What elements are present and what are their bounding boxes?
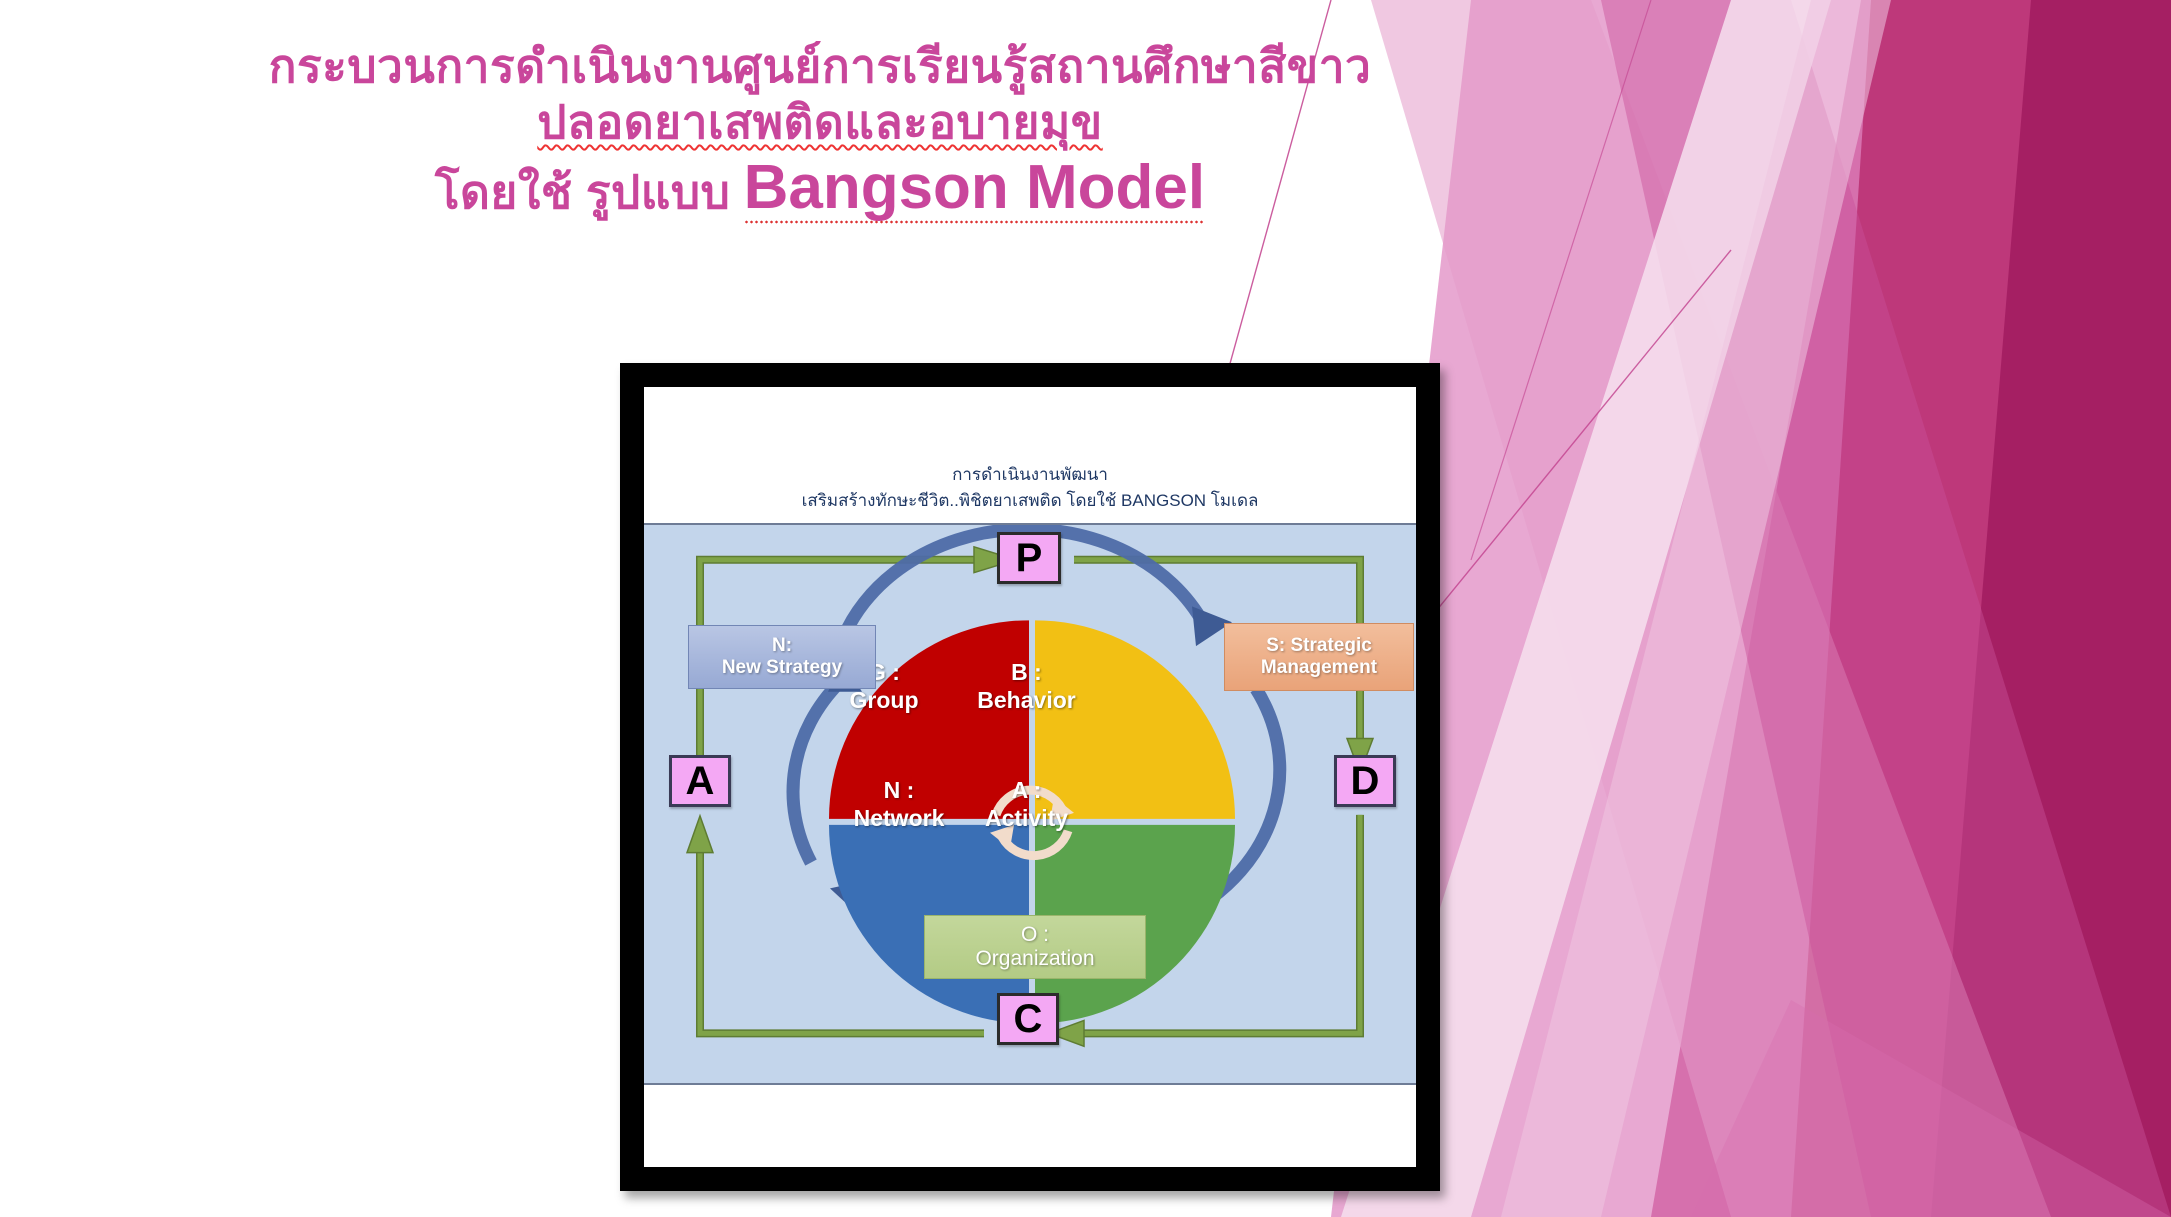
bangson-model-diagram: G : Group B : Behavior N : Network A : A… xyxy=(644,523,1416,1085)
label-organization: O : Organization xyxy=(924,915,1146,979)
picture-frame: การดำเนินงานพัฒนา เสริมสร้างทักษะชีวิต..… xyxy=(620,363,1440,1191)
quadrant-network-key: N : xyxy=(884,777,915,803)
quadrant-network-name: Network xyxy=(854,805,945,831)
pdca-box-plan: P xyxy=(997,532,1061,584)
quadrant-label-activity: A : Activity xyxy=(949,777,1104,832)
green-arrowhead-to-a xyxy=(687,816,713,853)
quadrant-group-name: Group xyxy=(850,687,919,713)
label-new-strategy-key: N: xyxy=(772,635,792,657)
title-line-2-text: ปลอดยาเสพติดและอบายมุข xyxy=(537,96,1102,148)
label-organization-name: Organization xyxy=(975,947,1094,971)
quadrant-activity-name: Activity xyxy=(985,805,1068,831)
title-line-2: ปลอดยาเสพติดและอบายมุข xyxy=(0,94,1640,150)
label-strategic-management-line2: Management xyxy=(1261,657,1377,679)
label-strategic-management-line1: S: Strategic xyxy=(1266,635,1372,657)
quadrant-activity-key: A : xyxy=(1012,777,1042,803)
pdca-box-act: A xyxy=(669,755,731,807)
diagram-caption: การดำเนินงานพัฒนา เสริมสร้างทักษะชีวิต..… xyxy=(644,387,1416,523)
label-strategic-management: S: Strategic Management xyxy=(1224,623,1414,691)
diagram-caption-line-2: เสริมสร้างทักษะชีวิต..พิชิตยาเสพติด โดยใ… xyxy=(802,488,1259,514)
label-new-strategy: N: New Strategy xyxy=(688,625,876,689)
pdca-box-do: D xyxy=(1334,755,1396,807)
quadrant-behavior-name: Behavior xyxy=(977,687,1075,713)
pdca-box-check: C xyxy=(997,993,1059,1045)
picture-content: การดำเนินงานพัฒนา เสริมสร้างทักษะชีวิต..… xyxy=(644,387,1416,1167)
quadrant-behavior-key: B : xyxy=(1011,659,1042,685)
slide-canvas: กระบวนการดำเนินงานศูนย์การเรียนรู้สถานศึ… xyxy=(0,0,2171,1217)
diagram-caption-line-1: การดำเนินงานพัฒนา xyxy=(952,462,1108,488)
title-line-3: โดยใช้ รูปแบบ Bangson Model xyxy=(0,150,1640,226)
label-organization-key: O : xyxy=(1021,923,1049,947)
page-title: กระบวนการดำเนินงานศูนย์การเรียนรู้สถานศึ… xyxy=(0,38,1640,226)
quadrant-label-behavior: B : Behavior xyxy=(934,659,1119,714)
title-line-3-prefix: โดยใช้ รูปแบบ xyxy=(435,166,744,218)
title-line-1: กระบวนการดำเนินงานศูนย์การเรียนรู้สถานศึ… xyxy=(0,38,1640,94)
picture-footer-band xyxy=(644,1085,1416,1167)
label-new-strategy-name: New Strategy xyxy=(722,657,842,679)
title-model-name: Bangson Model xyxy=(744,150,1206,226)
